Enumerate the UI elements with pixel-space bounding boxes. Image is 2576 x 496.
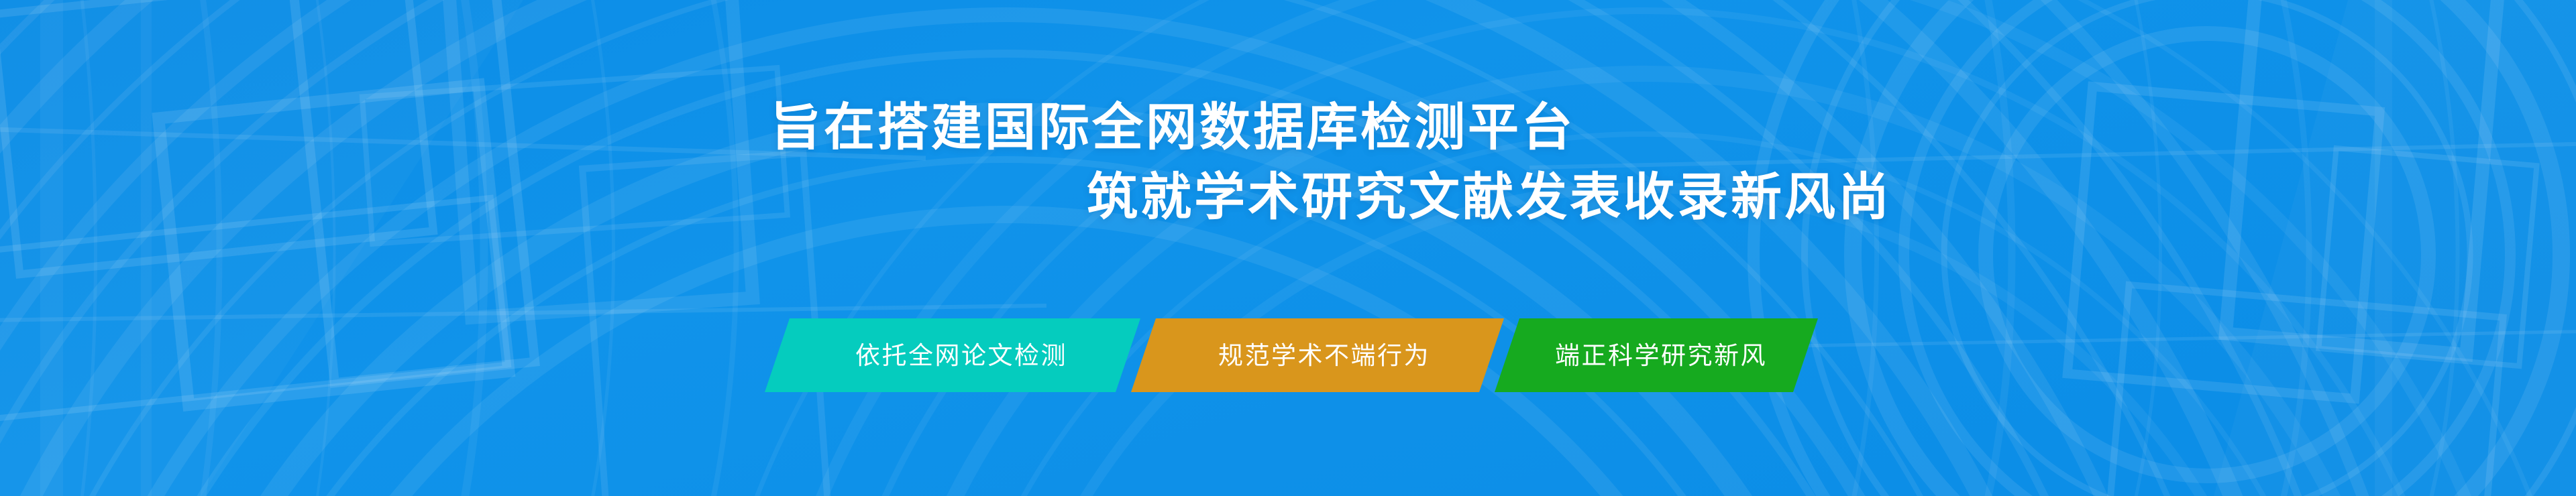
feature-tag-0-label: 依托全网论文检测	[855, 343, 1067, 368]
feature-tag-strip: 依托全网论文检测 规范学术不端行为 端正科学研究新风	[765, 318, 1818, 392]
promo-banner: 旨在搭建国际全网数据库检测平台 筑就学术研究文献发表收录新风尚 依托全网论文检测…	[0, 0, 2576, 496]
feature-tag-2-label: 端正科学研究新风	[1555, 343, 1767, 368]
feature-tag-1[interactable]: 规范学术不端行为	[1131, 318, 1504, 392]
headline-block: 旨在搭建国际全网数据库检测平台 筑就学术研究文献发表收录新风尚	[0, 101, 2576, 225]
headline-line-1: 旨在搭建国际全网数据库检测平台	[770, 101, 2576, 156]
headline-line-2: 筑就学术研究文献发表收录新风尚	[1087, 170, 2576, 225]
feature-tag-0[interactable]: 依托全网论文检测	[765, 318, 1140, 392]
feature-tag-1-label: 规范学术不端行为	[1218, 343, 1430, 368]
feature-tag-2[interactable]: 端正科学研究新风	[1495, 318, 1818, 392]
tech-arc-grid-pattern-icon	[0, 0, 2576, 496]
